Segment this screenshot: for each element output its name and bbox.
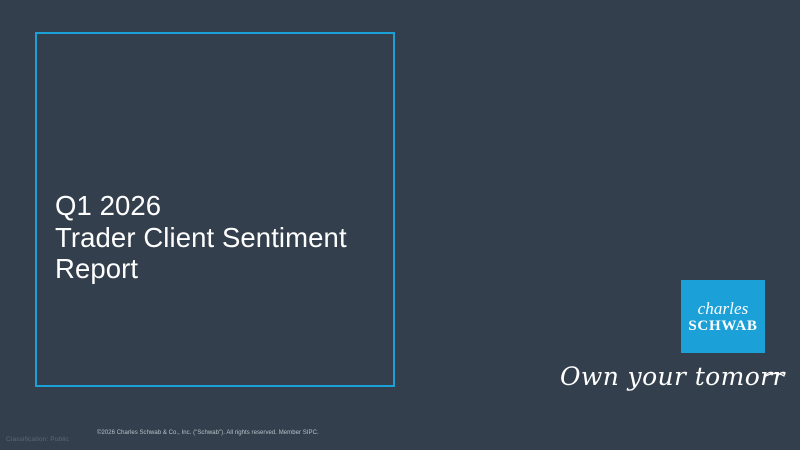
page-title: Q1 2026 Trader Client Sentiment Report — [55, 190, 385, 285]
logo-wordmark-charles: charles — [698, 300, 749, 317]
brand-tagline-text: Own your tomorrow. — [560, 362, 786, 391]
title-slide: Q1 2026 Trader Client Sentiment Report c… — [0, 0, 800, 450]
copyright-notice: ©2026 Charles Schwab & Co., Inc. ("Schwa… — [97, 429, 319, 438]
charles-schwab-logo: charles SCHWAB — [681, 280, 765, 353]
classification-label: Classification: Public — [6, 435, 69, 444]
title-line-3: Report — [55, 253, 385, 285]
brand-tagline: Own your tomorrow. — [558, 358, 786, 396]
logo-wordmark-schwab: SCHWAB — [688, 318, 757, 334]
title-line-2: Trader Client Sentiment — [55, 222, 385, 254]
title-line-1: Q1 2026 — [55, 190, 385, 222]
